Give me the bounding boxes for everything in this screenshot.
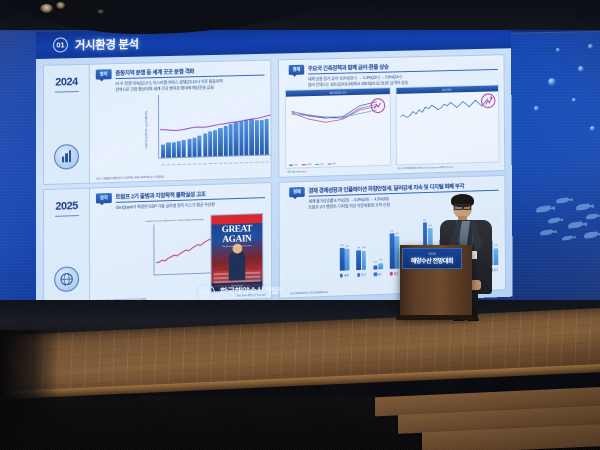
bar-group: 3.33.2 [340,216,350,271]
globe-glyph [58,270,75,288]
section-number-badge: 01 [53,37,68,52]
legend-swatch [328,163,332,164]
year-label: 2024 [55,76,77,89]
x-tick-label: 1996 [166,164,170,166]
x-tick-label: 2008 [229,162,233,164]
ceiling-spotlight [56,2,65,9]
legend-swatch [301,164,305,165]
bar-group: 0.60.9 [373,215,383,269]
podium-sign-line2: 해양수산 전망대회 [411,256,453,265]
line-overlay-conflicts [158,91,272,153]
x-tick-label: 2015 [265,161,269,163]
x-tick-label: 2010 [239,162,243,164]
quadrant-2024-economy: 경제 주요국 긴축정책과 함께 금리·환율 상승 세계 실질 장기 금리 -5.… [278,54,505,178]
bar: 2.5 [494,248,498,265]
tag-row: 정치 중동지역 분쟁 등 세계 곳곳 분쟁 격화 러·우 전쟁 지속(22.2~… [96,66,265,94]
page-title: 거시환경 분석 [75,35,139,52]
glasses-icon [454,204,471,208]
legend-swatch [289,164,293,165]
x-tick-label: 2001 [192,164,196,166]
bar-value-label: 5.2 [390,230,393,232]
bar: 4.8 [395,236,400,269]
chart-real-interest-rate: 세계 실질 장기 금리 미국유로존일본한국 자료: MSCI, Bloomber… [285,87,391,169]
magazine-title-line2: AGAIN [211,234,262,246]
category-label: 세계 [340,273,349,277]
chart-dollar-index: 달러 인덱스 자료: 한국은행경제통계시스템(ECOS), Investing.… [395,84,499,165]
year-underline [55,91,79,93]
category-dot [357,273,360,276]
quadrant-content: 정치 중동지역 분쟁 등 세계 곳곳 분쟁 격화 러·우 전쟁 지속(22.2~… [90,61,271,183]
x-tick-label: 1999 [182,164,186,166]
line-chart-svg [398,93,489,125]
x-tick-label: 2012 [250,162,254,164]
x-tick-label: 2016 [270,161,271,163]
category-tag: 경제 [289,187,304,197]
category-dot [390,272,393,275]
year-underline [55,215,79,217]
dual-line-charts: 세계 실질 장기 금리 미국유로존일본한국 자료: MSCI, Bloomber… [285,84,500,168]
line-series [292,102,377,119]
category-text: 한국 [494,268,499,272]
category-text: 세계 [344,273,349,277]
bar-value-label: 5.8 [429,225,432,227]
chart-legend: 미국유로존일본한국 [289,162,336,166]
x-tick-label: 1995 [161,164,165,166]
bar-value-label: 2.8 [362,247,365,249]
bar-value-label: 6.7 [423,219,426,221]
bar-group: 2.92.8 [356,216,366,271]
x-tick-label: 1998 [177,164,181,166]
source-note: 자료: MSCI, Bloomberg [287,170,306,174]
conference-photo-scene: Oceans & Fisheries Outlook 2025 해양수산 전망 … [0,0,600,450]
category-text: 중국 [394,272,399,276]
x-tick-label: 2000 [187,164,191,166]
category-label: EU [374,272,382,276]
trend-arrow-icon [483,96,493,106]
x-tick-label: 1997 [172,164,176,166]
category-tag: 정치 [96,69,112,79]
magazine-masthead-strip [211,214,262,225]
magazine-cover: GREAT AGAIN The Economist — America vote… [210,213,263,292]
year-column: 2024 [44,65,90,184]
legend-label: 한국 [333,162,336,165]
bar-chart-icon [54,144,79,170]
category-tag: 정치 [96,193,112,203]
podium-base [396,315,478,320]
bar: 0.6 [373,265,377,269]
category-tag: 경제 [289,65,304,75]
y-axis-label-left: 군사비 지출 (십억 달러, 2022년 불변가격) [145,111,149,149]
quadrant-content: 경제 주요국 긴축정책과 함께 금리·환율 상승 세계 실질 장기 금리 -5.… [283,55,504,177]
left-shadow-overlay [0,330,60,450]
x-tick-label: 2013 [255,162,259,164]
source-note: 자료: 스톡홀름국제평화연구소(SIPRI), 2024~2025 해양수산 전… [96,174,164,180]
year-label: 2025 [55,200,77,213]
ceiling-spotlight [40,4,53,13]
bar-group: 5.24.8 [389,214,399,268]
x-tick-label: 2003 [203,163,207,165]
globe-icon [54,266,79,292]
legend-item: 유로존 [301,163,311,166]
source-note: 자료: IMF(2024.10), 한국은행(2024.11) [290,290,328,295]
x-tick-label: 2005 [213,163,217,165]
x-axis-ticks: 1995199619971998199920002001200220032004… [161,160,272,166]
podium: 2025 해양수산 전망대회 [400,245,472,317]
category-label: 중국 [390,272,399,276]
category-text: EU [378,273,381,276]
legend-item: 일본 [315,162,323,165]
legend-label: 유로존 [306,163,311,166]
legend-label: 미국 [294,163,297,166]
bar-value-label: 4.8 [396,233,399,235]
bar: 3.2 [345,249,350,271]
bar: 0.9 [378,263,382,269]
x-tick-label: 2002 [198,163,202,165]
tag-row: 정치 트럼프 2기 출범과 지정학적 불확실성 고조 GeoQuant가 측정한… [96,188,265,211]
category-dot [374,273,377,276]
x-tick-label: 2006 [218,163,222,165]
chart-military-spending: 군사비 지출 (십억 달러, 2022년 불변가격) 무력 분쟁 건수 1995… [145,89,271,173]
ceiling-spotlight [97,9,104,14]
source-note: 자료: 한국은행경제통계시스템(ECOS), Investing.com(검색일… [397,166,453,171]
podium-sign-line1: 2025 [428,252,435,256]
x-tick-label: 2007 [224,163,228,165]
trend-arrow-icon [373,101,383,111]
bar: 2.8 [362,251,367,270]
legend-item: 미국 [289,163,297,166]
category-text: 미국 [361,273,366,277]
bar: 2.9 [356,250,361,270]
bar: 5.2 [390,234,395,269]
legend-label: 일본 [320,162,323,165]
bar: 3.3 [340,248,345,271]
bar-value-label: 3.2 [346,245,349,247]
year-column: 2025 [44,189,90,307]
quadrant-2024-politics: 2024 정치 중동지역 분쟁 등 세계 곳곳 분쟁 격화 [43,60,272,185]
legend-swatch [315,163,319,164]
x-tick-label: 2004 [208,163,212,165]
figure-illustration [229,250,246,280]
podium-sign: 2025 해양수산 전망대회 [402,248,462,269]
x-tick-label: 2009 [234,162,238,164]
line-chart-svg [288,95,381,129]
legend-item: 한국 [328,162,336,165]
bar-value-label: 2.9 [357,247,360,249]
category-dot [340,274,343,277]
bar-value-label: 0.6 [374,262,377,264]
category-label: 미국 [357,273,366,277]
bar-value-label: 0.9 [379,260,382,262]
x-tick-label: 2014 [260,162,264,164]
x-tick-label: 2011 [244,162,248,164]
bar-value-label: 2.5 [494,245,497,247]
bar-value-label: 3.3 [340,245,343,247]
